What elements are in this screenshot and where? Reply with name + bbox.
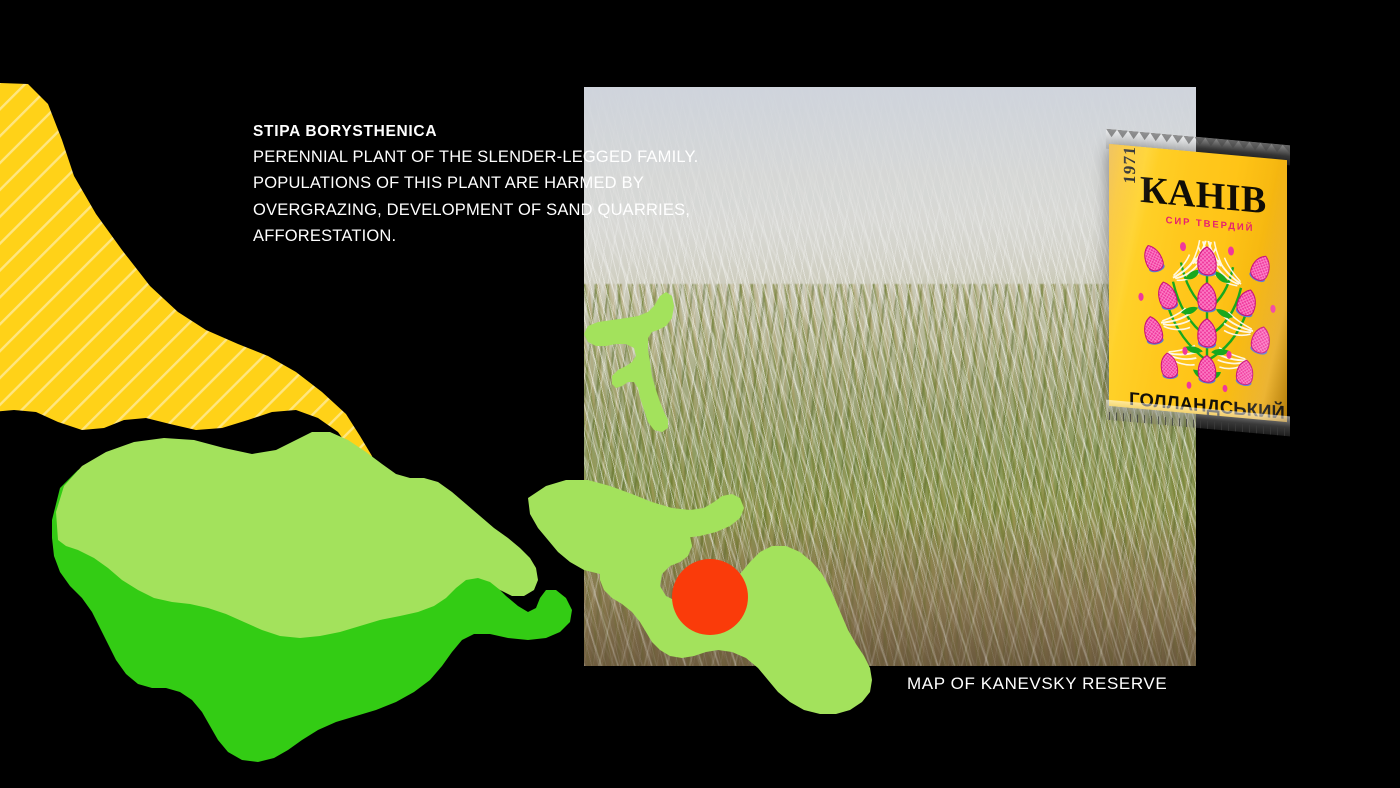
map-caption: MAP OF KANEVSKY RESERVE (907, 674, 1167, 694)
species-heading: STIPA BORYSTHENICA (253, 120, 713, 144)
map-zone-light-green (56, 432, 538, 638)
package-gloss (1109, 144, 1287, 422)
seal-zigzag-bottom-icon (1106, 412, 1290, 437)
map-zone-dark-green (52, 452, 572, 762)
species-description: PERENNIAL PLANT OF THE SLENDER-LEGGED FA… (253, 144, 713, 250)
cheese-package: 1971 КАНІВ СИР ТВЕРДИЙ (1100, 130, 1296, 435)
info-text-block: STIPA BORYSTHENICA PERENNIAL PLANT OF TH… (253, 120, 713, 250)
package-front-face: 1971 КАНІВ СИР ТВЕРДИЙ (1109, 144, 1287, 422)
poster-canvas: STIPA BORYSTHENICA PERENNIAL PLANT OF TH… (0, 0, 1400, 788)
